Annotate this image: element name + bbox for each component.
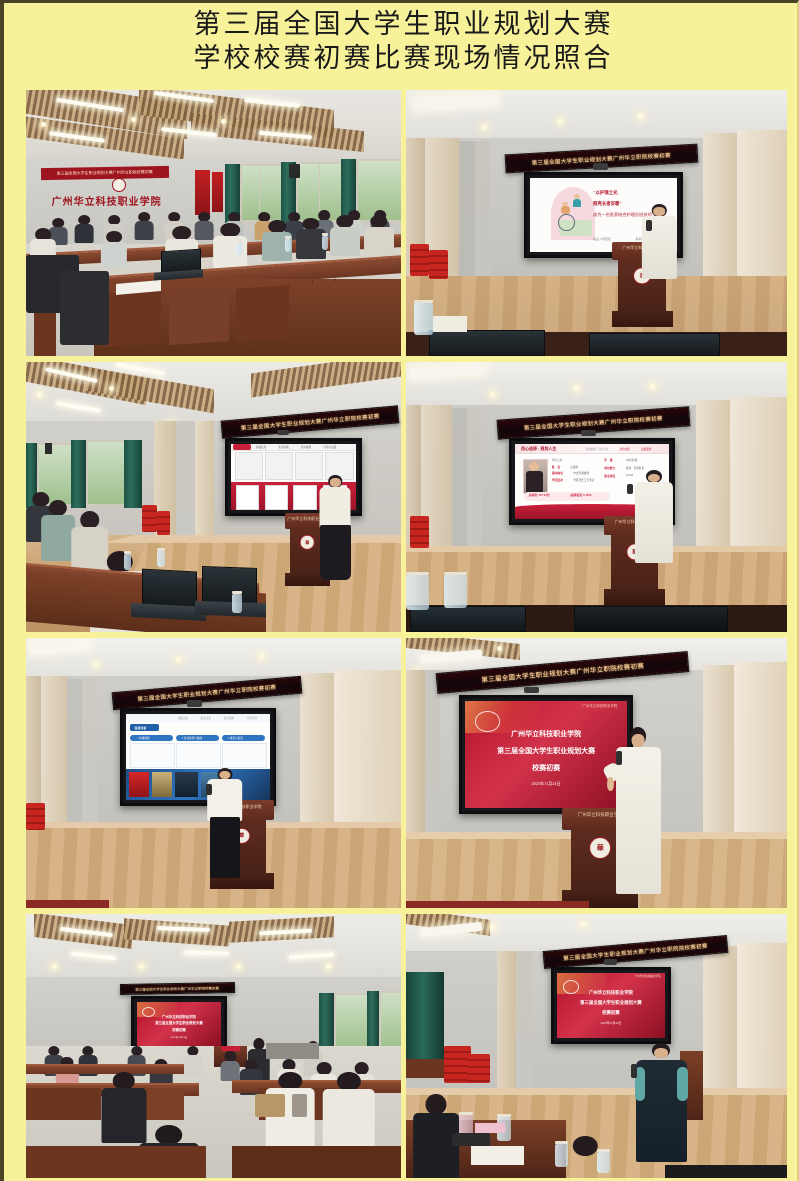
photo-6-image: 第三届全国大学生职业规划大赛广州华立职院校赛初赛 广州华立科技职业学院 广州华立…	[406, 638, 787, 908]
photo-7-image: 第三届全国大学生职业规划大赛广州华立职院校赛初赛 广州华立科技职业学院 第三届全…	[26, 914, 401, 1178]
photo-4-score-value: 107.04分	[538, 493, 549, 497]
photo-6-slide-date: 2025年11月24日	[532, 781, 561, 787]
photo-5-block-1: 1 性格特质	[137, 736, 149, 740]
photo-5-block-3: 3 成长与反思	[228, 736, 243, 740]
photo-8-slide-line2: 第三届全国大学生职业规划大赛	[580, 1000, 641, 1006]
photo-6-slide-line3: 校赛初赛	[532, 763, 560, 773]
photo-2-slide-line2: 照亮长者安暖"	[593, 201, 622, 207]
photo-6-slide-line1: 广州华立科技职业学院	[511, 729, 581, 739]
photo-cell-2[interactable]: 第三届全国大学生职业规划大赛广州华立职院校赛初赛 "以护理之光,	[406, 90, 787, 356]
photo-5-block-2: 2 专业优势与挑战	[182, 736, 202, 740]
photo-6-slide: 广州华立科技职业学院 广州华立科技职业学院 第三届全国大学生职业规划大赛 校赛初…	[465, 701, 627, 808]
photo-grid: 第三届全国大学生职业规划大赛广州华立职院校赛初赛 广州华立科技职业学院	[26, 90, 786, 1178]
title-line-2: 学校校赛初赛比赛现场情况照合	[4, 41, 799, 75]
photo-7-slide: 广州华立科技职业学院 第三届全国大学生职业规划大赛 校赛初赛 2025年11月2…	[137, 1002, 221, 1046]
photo-cell-8[interactable]: 第三届全国大学生职业规划大赛广州华立职院院校赛初赛 广州华立科技职业学院 广州华…	[406, 914, 787, 1178]
photo-1-wall-banner: 第三届全国大学生职业规划大赛广州华立职院校赛初赛	[57, 169, 153, 177]
page-title: 第三届全国大学生职业规划大赛 学校校赛初赛比赛现场情况照合	[4, 7, 799, 75]
photo-8-slide-date: 2025年11月24日	[600, 1021, 621, 1025]
photo-5-image: 第三届全国大学生职业规划大赛广州华立职院校赛初赛 自我认知 职业认知 目标规划 …	[26, 638, 401, 908]
photo-8-image: 第三届全国大学生职业规划大赛广州华立职院院校赛初赛 广州华立科技职业学院 广州华…	[406, 914, 787, 1178]
photo-2-slide-footer-left: 职业人师范区	[593, 237, 611, 241]
photo-2-slide-line1: "以护理之光,	[593, 190, 619, 196]
photo-7-slide-line3: 校赛初赛	[172, 1027, 186, 1032]
photo-cell-3[interactable]: 第三届全国大学生职业规划大赛广州华立职院校赛初赛 自我认知 生涯决策 目标规划 …	[26, 362, 401, 632]
photo-8-slide-line3: 校赛初赛	[602, 1010, 620, 1016]
photo-cell-4[interactable]: 第三届全国大学生职业规划大赛广州华立职院校赛初赛 用心选择 · 规划人生 自我规…	[406, 362, 787, 632]
poster-page: 第三届全国大学生职业规划大赛 学校校赛初赛比赛现场情况照合	[0, 0, 799, 1181]
photo-6-slide-line2: 第三届全国大学生职业规划大赛	[497, 746, 595, 756]
photo-cell-1[interactable]: 第三届全国大学生职业规划大赛广州华立职院校赛初赛 广州华立科技职业学院	[26, 90, 401, 356]
photo-4-score-label: 总得分	[529, 493, 538, 497]
photo-4-image: 第三届全国大学生职业规划大赛广州华立职院校赛初赛 用心选择 · 规划人生 自我规…	[406, 362, 787, 632]
photo-cell-6[interactable]: 第三届全国大学生职业规划大赛广州华立职院校赛初赛 广州华立科技职业学院 广州华立…	[406, 638, 787, 908]
photo-cell-7[interactable]: 第三届全国大学生职业规划大赛广州华立职院校赛初赛 广州华立科技职业学院 第三届全…	[26, 914, 401, 1178]
photo-4-slide-heading: 用心选择 · 规划人生	[521, 446, 556, 452]
photo-4-rank-value: 1/1034	[583, 493, 591, 497]
photo-5-slide: 自我认知 职业认知 目标规划 行动计划 自我分析 1 性格特质 2 专业优势与挑…	[126, 714, 270, 800]
photo-7-slide-line1: 广州华立科技职业学院	[162, 1014, 196, 1019]
photo-1-image: 第三届全国大学生职业规划大赛广州华立职院校赛初赛 广州华立科技职业学院	[26, 90, 401, 356]
photo-7-banner: 第三届全国大学生职业规划大赛广州华立职院校赛初赛	[120, 982, 235, 995]
title-line-1: 第三届全国大学生职业规划大赛	[4, 7, 799, 41]
photo-2-image: 第三届全国大学生职业规划大赛广州华立职院校赛初赛 "以护理之光,	[406, 90, 787, 356]
photo-1-wall-sign: 广州华立科技职业学院	[52, 193, 162, 208]
photo-8-slide-line1: 广州华立科技职业学院	[589, 990, 633, 996]
photo-8-slide: 广州华立科技职业学院 广州华立科技职业学院 第三届全国大学生职业规划大赛 校赛初…	[557, 973, 665, 1038]
photo-7-slide-line2: 第三届全国大学生职业规划大赛	[155, 1020, 202, 1025]
photo-5-slide-heading: 自我分析	[134, 726, 146, 730]
photo-cell-5[interactable]: 第三届全国大学生职业规划大赛广州华立职院校赛初赛 自我认知 职业认知 目标规划 …	[26, 638, 401, 908]
photo-4-rank-label: 总排名次	[570, 493, 582, 497]
photo-7-slide-date: 2025年11月24日	[171, 1035, 188, 1039]
photo-3-image: 第三届全国大学生职业规划大赛广州华立职院校赛初赛 自我认知 生涯决策 目标规划 …	[26, 362, 401, 632]
